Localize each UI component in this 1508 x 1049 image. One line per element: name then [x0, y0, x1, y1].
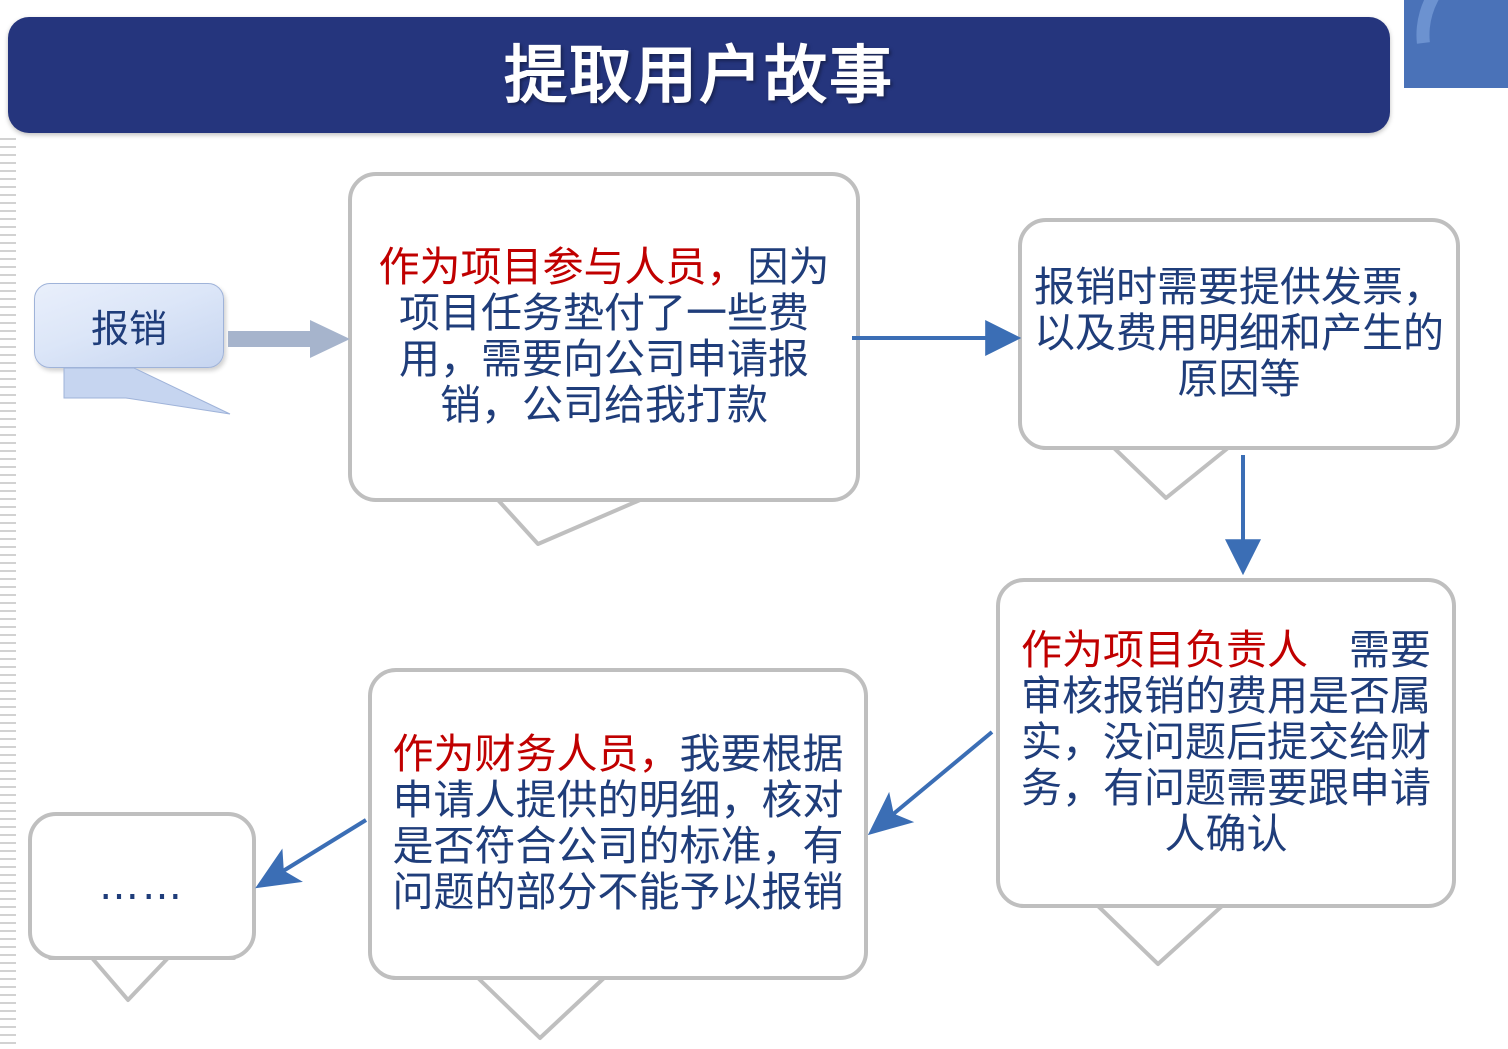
callout-ellipsis-tail-icon — [28, 952, 256, 1022]
callout-participant[interactable]: 作为项目参与人员，因为项目任务垫付了一些费用，需要向公司申请报销，公司给我打款 — [348, 172, 860, 502]
arrow-manager-to-finance — [874, 732, 992, 830]
callout-finance-role: 作为财务人员， — [393, 730, 680, 778]
callout-manager[interactable]: 作为项目负责人 需要审核报销的费用是否属实，没问题后提交给财务，有问题需要跟申请… — [996, 578, 1456, 908]
source-bubble[interactable]: 报销 — [34, 283, 224, 368]
callout-invoice-text: 报销时需要提供发票，以及费用明细和产生的原因等 — [1022, 265, 1456, 403]
callout-manager-tail-icon — [996, 900, 1456, 980]
arrow-source-to-participant — [228, 320, 350, 358]
arrow-finance-to-ellipsis — [262, 820, 366, 884]
callout-participant-text: 作为项目参与人员，因为项目任务垫付了一些费用，需要向公司申请报销，公司给我打款 — [352, 245, 856, 429]
callout-invoice-tail-icon — [1018, 442, 1460, 512]
callout-finance[interactable]: 作为财务人员，我要根据申请人提供的明细，核对是否符合公司的标准，有问题的部分不能… — [368, 668, 868, 980]
left-dashed-rail — [0, 138, 16, 1049]
callout-ellipsis-text: …… — [89, 864, 195, 909]
slide-canvas: 提取用户故事 报销 作为项目参与人员，因为项目任务垫付了一些费用，需要向公司申请… — [0, 0, 1508, 1049]
slide-title-bar: 提取用户故事 — [8, 17, 1390, 133]
callout-manager-text: 作为项目负责人 需要审核报销的费用是否属实，没问题后提交给财务，有问题需要跟申请… — [1000, 628, 1452, 858]
callout-manager-role: 作为项目负责人 — [1021, 626, 1349, 674]
callout-participant-tail-icon — [348, 494, 860, 564]
callout-finance-text: 作为财务人员，我要根据申请人提供的明细，核对是否符合公司的标准，有问题的部分不能… — [372, 732, 864, 916]
callout-ellipsis[interactable]: …… — [28, 812, 256, 960]
callout-finance-tail-icon — [368, 972, 868, 1049]
callout-participant-role: 作为项目参与人员， — [379, 243, 748, 291]
page-title: 提取用户故事 — [504, 44, 894, 107]
callout-invoice[interactable]: 报销时需要提供发票，以及费用明细和产生的原因等 — [1018, 218, 1460, 450]
source-bubble-tail-icon — [34, 360, 244, 430]
source-bubble-label: 报销 — [91, 298, 167, 353]
